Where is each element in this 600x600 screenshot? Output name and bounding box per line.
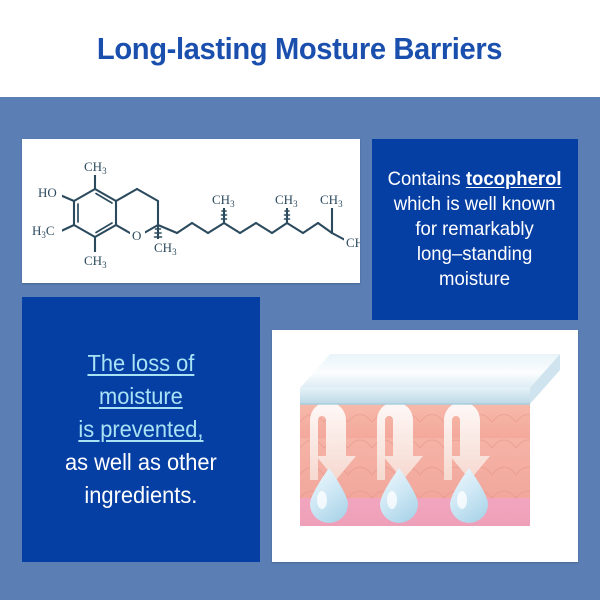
chem-label-ch3-tail-end: CH3 bbox=[346, 235, 360, 252]
header-band: Long-lasting Mosture Barriers bbox=[0, 0, 600, 97]
callout-line2: which is well known bbox=[394, 193, 556, 215]
skin-moisture-diagram bbox=[272, 330, 578, 562]
tocopherol-callout-text: Contains tocopherol which is well known … bbox=[382, 167, 567, 292]
moisture-barrier-layer bbox=[300, 354, 560, 404]
moisture-line3: is prevented, bbox=[78, 416, 203, 442]
chem-label-ring-oxygen: O bbox=[132, 228, 141, 243]
page-title: Long-lasting Mosture Barriers bbox=[97, 31, 502, 67]
moisture-line5: ingredients. bbox=[85, 482, 198, 508]
chemical-structure-card: HO CH3 H3C CH3 O CH3 CH3 CH3 CH3 CH3 bbox=[22, 139, 360, 283]
skin-illustration-card bbox=[272, 330, 578, 562]
poster-root: Long-lasting Mosture Barriers bbox=[0, 0, 600, 600]
moisture-loss-callout-text: The loss of moisture is prevented, as we… bbox=[65, 347, 217, 512]
callout-keyword: tocopherol bbox=[466, 168, 562, 190]
chem-label-ho: HO bbox=[38, 185, 57, 200]
callout-line3: for remarkably bbox=[416, 218, 534, 240]
callout-line4: long–standing bbox=[417, 243, 532, 265]
tocopherol-callout-box: Contains tocopherol which is well known … bbox=[372, 139, 578, 320]
callout-line1-prefix: Contains bbox=[388, 168, 466, 190]
alpha-tocopherol-diagram: HO CH3 H3C CH3 O CH3 CH3 CH3 CH3 CH3 bbox=[22, 139, 360, 283]
moisture-loss-callout-box: The loss of moisture is prevented, as we… bbox=[22, 297, 260, 562]
callout-line5: moisture bbox=[439, 268, 510, 290]
moisture-line1: The loss of bbox=[88, 350, 195, 376]
moisture-line4: as well as other bbox=[65, 449, 217, 475]
moisture-line2: moisture bbox=[99, 383, 183, 409]
